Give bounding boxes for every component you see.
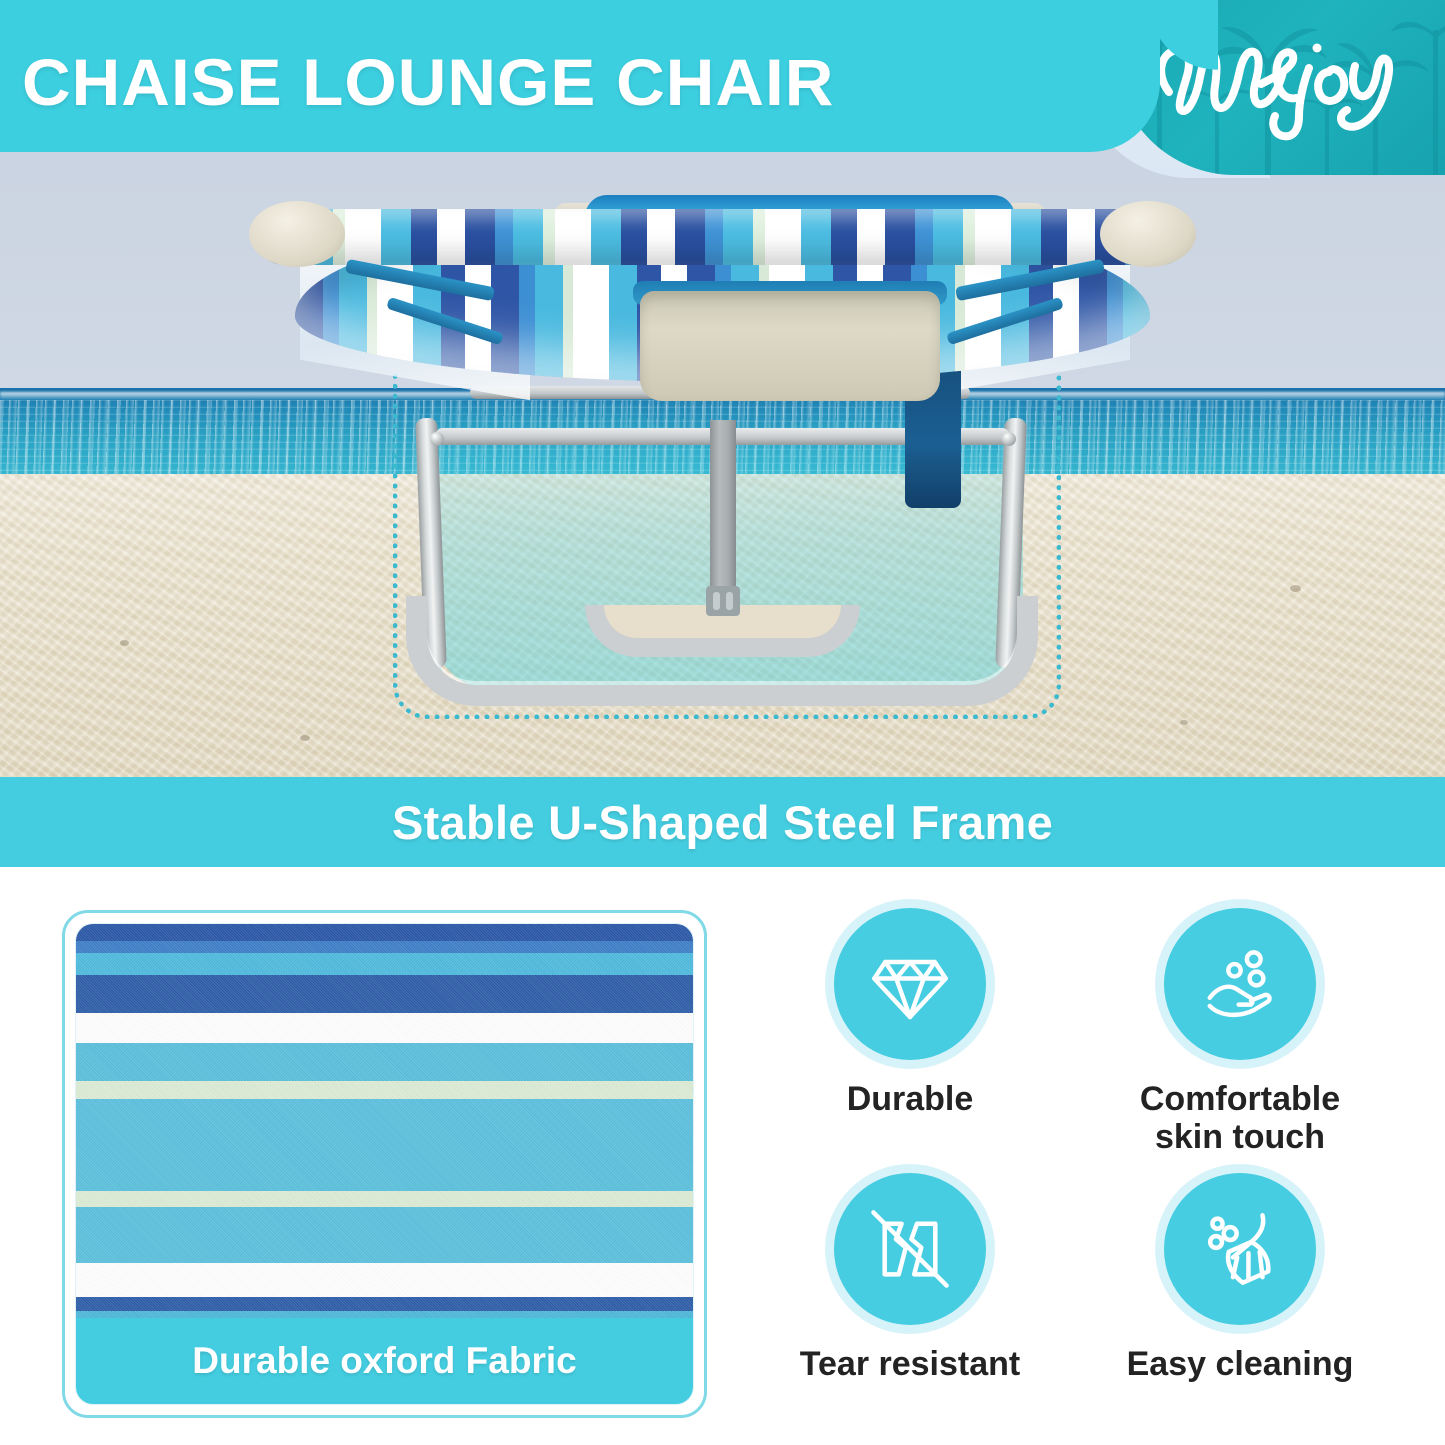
feature-label: Tear resistant	[800, 1345, 1020, 1383]
fabric-stripe	[76, 1081, 693, 1099]
frame-strap	[710, 420, 736, 600]
chair-top-bar	[255, 209, 1190, 265]
fabric-stripe-pattern	[76, 924, 693, 1346]
hero-product-photo: CHAISE LOUNGE CHAIR Stable U-Shaped Stee…	[0, 0, 1445, 888]
fabric-stripe	[76, 924, 693, 941]
strap-buckle	[706, 586, 740, 616]
feature-grid: Durable Comfortable skin touch	[745, 902, 1405, 1432]
feature-label: Durable	[847, 1080, 974, 1118]
feature-item-comfortable-skin-touch: Comfortable skin touch	[1075, 902, 1405, 1167]
product-infographic: CHAISE LOUNGE CHAIR Stable U-Shaped Stee…	[0, 0, 1445, 1445]
tear-resistant-icon	[865, 1204, 955, 1294]
chair-bar-cap-left	[249, 201, 345, 267]
feature-item-tear-resistant: Tear resistant	[745, 1167, 1075, 1432]
feature-icon-badge	[1164, 1173, 1316, 1325]
fabric-stripe	[76, 1297, 693, 1311]
page-title: CHAISE LOUNGE CHAIR	[22, 44, 834, 120]
feature-icon-badge	[834, 1173, 986, 1325]
fabric-stripe	[76, 1013, 693, 1043]
frame-rivet	[1002, 432, 1016, 446]
feature-icon-badge	[834, 908, 986, 1060]
fabric-caption-bar: Durable oxford Fabric	[76, 1318, 693, 1404]
hero-caption-text: Stable U-Shaped Steel Frame	[392, 795, 1053, 850]
feature-item-easy-cleaning: Easy cleaning	[1075, 1167, 1405, 1432]
sand-speck	[120, 640, 129, 646]
feature-item-durable: Durable	[745, 902, 1075, 1167]
features-section: Durable oxford Fabric Durable	[0, 888, 1445, 1445]
sand-speck	[1290, 585, 1301, 592]
fabric-stripe	[76, 1043, 693, 1081]
feature-label: Easy cleaning	[1127, 1345, 1354, 1383]
fabric-stripe	[76, 953, 693, 975]
feature-icon-badge	[1164, 908, 1316, 1060]
sand-speck	[1180, 720, 1188, 725]
diamond-icon	[866, 940, 954, 1028]
chair-seat-assembly	[255, 195, 1190, 410]
fabric-swatch-inner: Durable oxford Fabric	[75, 923, 694, 1405]
fabric-stripe	[76, 1191, 693, 1207]
frame-rivet	[430, 432, 444, 446]
fabric-swatch-card: Durable oxford Fabric	[62, 910, 707, 1418]
fabric-stripe	[76, 1207, 693, 1263]
hero-caption-banner: Stable U-Shaped Steel Frame	[0, 777, 1445, 867]
fabric-stripe	[76, 1263, 693, 1297]
chair-bar-cap-right	[1100, 201, 1196, 267]
broom-bubbles-icon	[1195, 1204, 1285, 1294]
fabric-stripe	[76, 941, 693, 953]
feature-label: Comfortable skin touch	[1140, 1080, 1340, 1156]
fabric-caption-text: Durable oxford Fabric	[192, 1340, 576, 1382]
fabric-stripe	[76, 975, 693, 1013]
sand-speck	[300, 735, 310, 741]
fabric-stripe	[76, 1099, 693, 1191]
chair-pouch	[640, 291, 940, 401]
hand-bubbles-icon	[1196, 940, 1284, 1028]
